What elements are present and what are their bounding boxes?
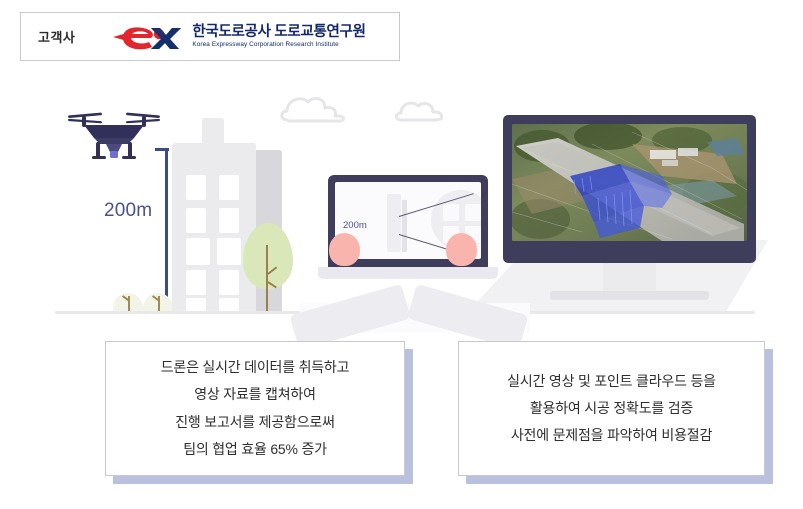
card-right: 실시간 영상 및 포인트 클라우드 등을 활용하여 시공 정확도를 검증 사전에… [458, 341, 765, 476]
client-header-box: 고객사 한국도로공사 도로교통연구원 Korea Expressway Corp… [20, 12, 400, 61]
client-logo-text: 한국도로공사 도로교통연구원 Korea Expressway Corporat… [192, 25, 365, 49]
cloud-icon [277, 90, 349, 124]
tablet-altitude-label: 200m [343, 220, 367, 231]
cloud-icon [392, 96, 448, 124]
tree-icon [243, 223, 293, 313]
card-right-text: 실시간 영상 및 포인트 클라우드 등을 활용하여 시공 정확도를 검증 사전에… [507, 368, 716, 450]
altitude-measure-bracket [155, 148, 169, 313]
bush-icon [113, 293, 147, 313]
card-left-text: 드론은 실시간 데이터를 취득하고 영상 자료를 캡쳐하여 진행 보고서를 제공… [161, 354, 350, 463]
ex-logo-icon [111, 22, 183, 52]
infographic-canvas: 고객사 한국도로공사 도로교통연구원 Korea Expressway Corp… [0, 0, 803, 509]
monitor-screen [512, 124, 747, 241]
client-logo: 한국도로공사 도로교통연구원 Korea Expressway Corporat… [111, 22, 365, 52]
illustration-scene: 200m [0, 70, 803, 320]
client-name-kr: 한국도로공사 도로교통연구원 [192, 25, 365, 40]
drone-icon [66, 94, 162, 166]
monitor-icon [503, 115, 756, 315]
client-label: 고객사 [38, 27, 75, 46]
altitude-label: 200m [104, 200, 152, 222]
client-name-en: Korea Expressway Corporation Research In… [192, 42, 365, 48]
hand-right [446, 233, 477, 266]
hand-left [329, 233, 360, 266]
card-left: 드론은 실시간 데이터를 취득하고 영상 자료를 캡쳐하여 진행 보고서를 제공… [105, 341, 405, 476]
tablet-operator-illustration: 200m [300, 175, 510, 315]
